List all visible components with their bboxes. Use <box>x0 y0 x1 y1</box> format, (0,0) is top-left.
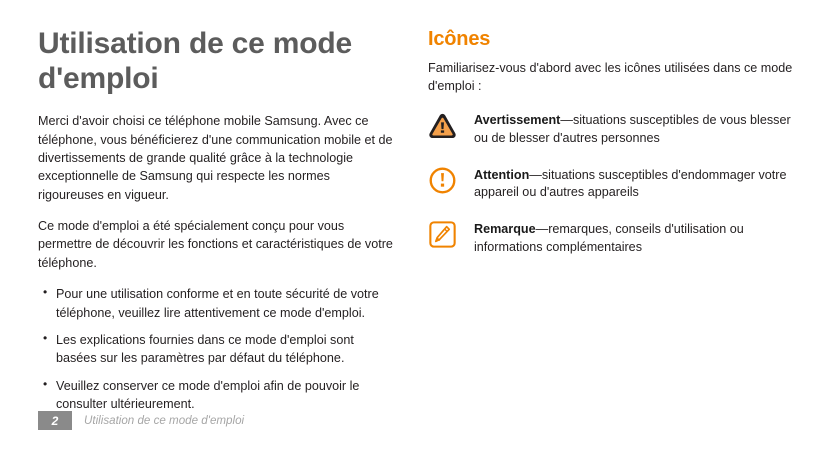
icon-cell <box>428 110 474 140</box>
icon-legend-row: Remarque—remarques, conseils d'utilisati… <box>428 219 796 257</box>
icon-legend-text: Remarque—remarques, conseils d'utilisati… <box>474 219 796 257</box>
list-item: Veuillez conserver ce mode d'emploi afin… <box>38 377 396 414</box>
icon-cell <box>428 219 474 249</box>
right-column: Icônes Familiarisez-vous d'abord avec le… <box>428 28 796 274</box>
caution-circle-icon <box>428 166 457 195</box>
icon-legend-row: Attention—situations susceptibles d'endo… <box>428 165 796 203</box>
intro-paragraph-1: Merci d'avoir choisi ce téléphone mobile… <box>38 112 396 204</box>
icons-intro-text: Familiarisez-vous d'abord avec les icône… <box>428 59 796 96</box>
icon-legend-text: Attention—situations susceptibles d'endo… <box>474 165 796 203</box>
page-footer: 2 Utilisation de ce mode d'emploi <box>38 411 244 430</box>
guidance-bullet-list: Pour une utilisation conforme et en tout… <box>38 285 396 413</box>
icon-legend-row: Avertissement—situations susceptibles de… <box>428 110 796 148</box>
left-column: Utilisation de ce mode d'emploi Merci d'… <box>38 26 396 422</box>
note-pen-icon <box>428 220 457 249</box>
page-title: Utilisation de ce mode d'emploi <box>38 26 388 96</box>
icon-term-label: Attention <box>474 168 529 182</box>
page-number-badge: 2 <box>38 411 72 430</box>
icon-cell <box>428 165 474 195</box>
section-title-icones: Icônes <box>428 28 796 51</box>
document-page: Utilisation de ce mode d'emploi Merci d'… <box>0 0 827 449</box>
icon-legend-text: Avertissement—situations susceptibles de… <box>474 110 796 148</box>
footer-chapter-label: Utilisation de ce mode d'emploi <box>84 414 244 427</box>
intro-paragraph-2: Ce mode d'emploi a été spécialement conç… <box>38 217 396 272</box>
icon-term-label: Remarque <box>474 222 536 236</box>
list-item: Pour une utilisation conforme et en tout… <box>38 285 396 322</box>
icon-term-label: Avertissement <box>474 113 560 127</box>
warning-triangle-icon <box>428 111 457 140</box>
list-item: Les explications fournies dans ce mode d… <box>38 331 396 368</box>
